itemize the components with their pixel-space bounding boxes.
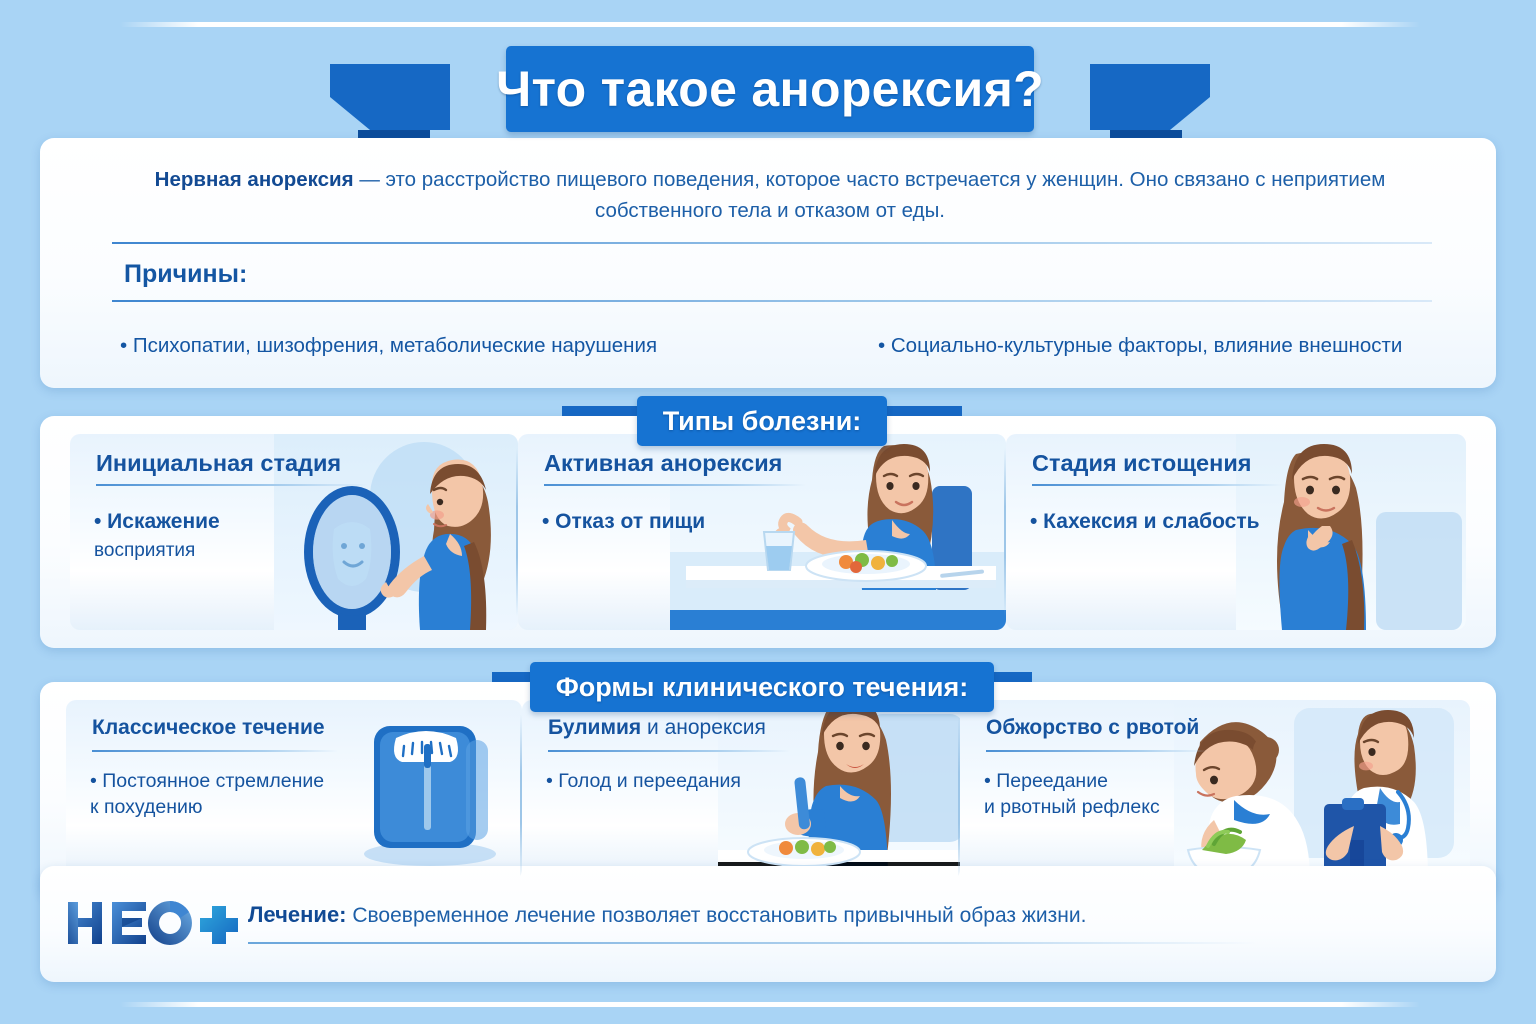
title-underline [1032,484,1282,486]
intro-body-text: — это расстройство пищевого поведения, к… [354,168,1386,222]
types-banner-label: Типы болезни: [663,406,862,437]
ribbon-tail-right [1090,64,1210,130]
card-separator [1004,448,1006,616]
form-card-title: Классическое течение [92,716,325,740]
type-card-active-anorexia: Активная анорексия • Отказ от пищи [518,434,1006,630]
treatment-label: Лечение: [248,902,347,927]
neo-plus-logo [64,894,244,952]
woman-vomiting-and-doctor-illustration [1174,700,1470,880]
type-card-bullet: • Отказ от пищи [542,508,705,536]
title-underline [92,750,338,752]
infographic-canvas: Что такое анорексия? Нервная анорексия —… [0,0,1536,1024]
top-divider-rule [120,22,1420,27]
type-card-initial-stage: Инициальная стадия • Искажение восприяти… [70,434,518,630]
page-title-plate: Что такое анорексия? [506,46,1034,132]
type-card-bullet: • Кахексия и слабость [1030,508,1260,536]
form-card-classic-course: Классическое течение • Постоянное стремл… [66,700,522,880]
footer-divider [248,942,1258,944]
intro-panel: Нервная анорексия — это расстройство пищ… [40,138,1496,388]
title-underline [548,750,790,752]
form-card-bullet: • Голод и переедания [546,768,741,794]
page-title-ribbon: Что такое анорексия? [330,46,1210,142]
exhausted-woman-illustration [1236,434,1466,630]
form-card-binge-vomit: Обжорство с рвотой • Переедание и рвотны… [960,700,1470,880]
title-underline [96,484,368,486]
form-card-title: Обжорство с рвотой [986,716,1199,740]
forms-banner-label: Формы клинического течения: [556,672,969,703]
treatment-text: Своевременное лечение позволяет восстано… [347,904,1087,927]
causes-heading: Причины: [124,260,247,289]
type-card-bullet: • Искажение восприятия [94,508,220,565]
forms-section-ribbon: Формы клинического течения: [492,662,1032,720]
types-banner-plate: Типы болезни: [637,396,888,446]
forms-banner-plate: Формы клинического течения: [530,662,995,712]
intro-lead-term: Нервная анорексия [155,168,354,191]
title-underline [544,484,806,486]
card-separator [516,448,518,616]
type-card-exhaustion-stage: Стадия истощения • Кахексия и слабость [1006,434,1466,630]
footer-panel: Лечение: Своевременное лечение позволяет… [40,866,1496,982]
cause-item-1: • Психопатии, шизофрения, метаболические… [120,334,657,358]
types-panel: Инициальная стадия • Искажение восприяти… [40,416,1496,648]
card-separator [958,714,960,880]
bottom-divider-rule [120,1002,1420,1007]
intro-divider-1 [112,242,1432,244]
type-card-title: Стадия истощения [1032,450,1251,477]
page-title: Что такое анорексия? [496,60,1044,118]
form-card-bullet: • Постоянное стремление к похудению [90,768,324,820]
cause-item-2: • Социально-культурные факторы, влияние … [878,334,1402,358]
intro-definition: Нервная анорексия — это расстройство пищ… [100,164,1440,226]
intro-divider-2 [112,300,1432,302]
form-card-title: Булимия и анорексия [548,716,766,740]
title-underline [986,750,1208,752]
type-card-title: Активная анорексия [544,450,782,477]
card-separator [520,714,522,880]
type-card-title: Инициальная стадия [96,450,341,477]
treatment-line: Лечение: Своевременное лечение позволяет… [248,902,1086,928]
bathroom-scale-icon [346,704,514,874]
form-card-bullet: • Переедание и рвотный рефлекс [984,768,1160,820]
form-card-bulimia: Булимия и анорексия • Голод и переедания [522,700,960,880]
ribbon-tail-left [330,64,450,130]
